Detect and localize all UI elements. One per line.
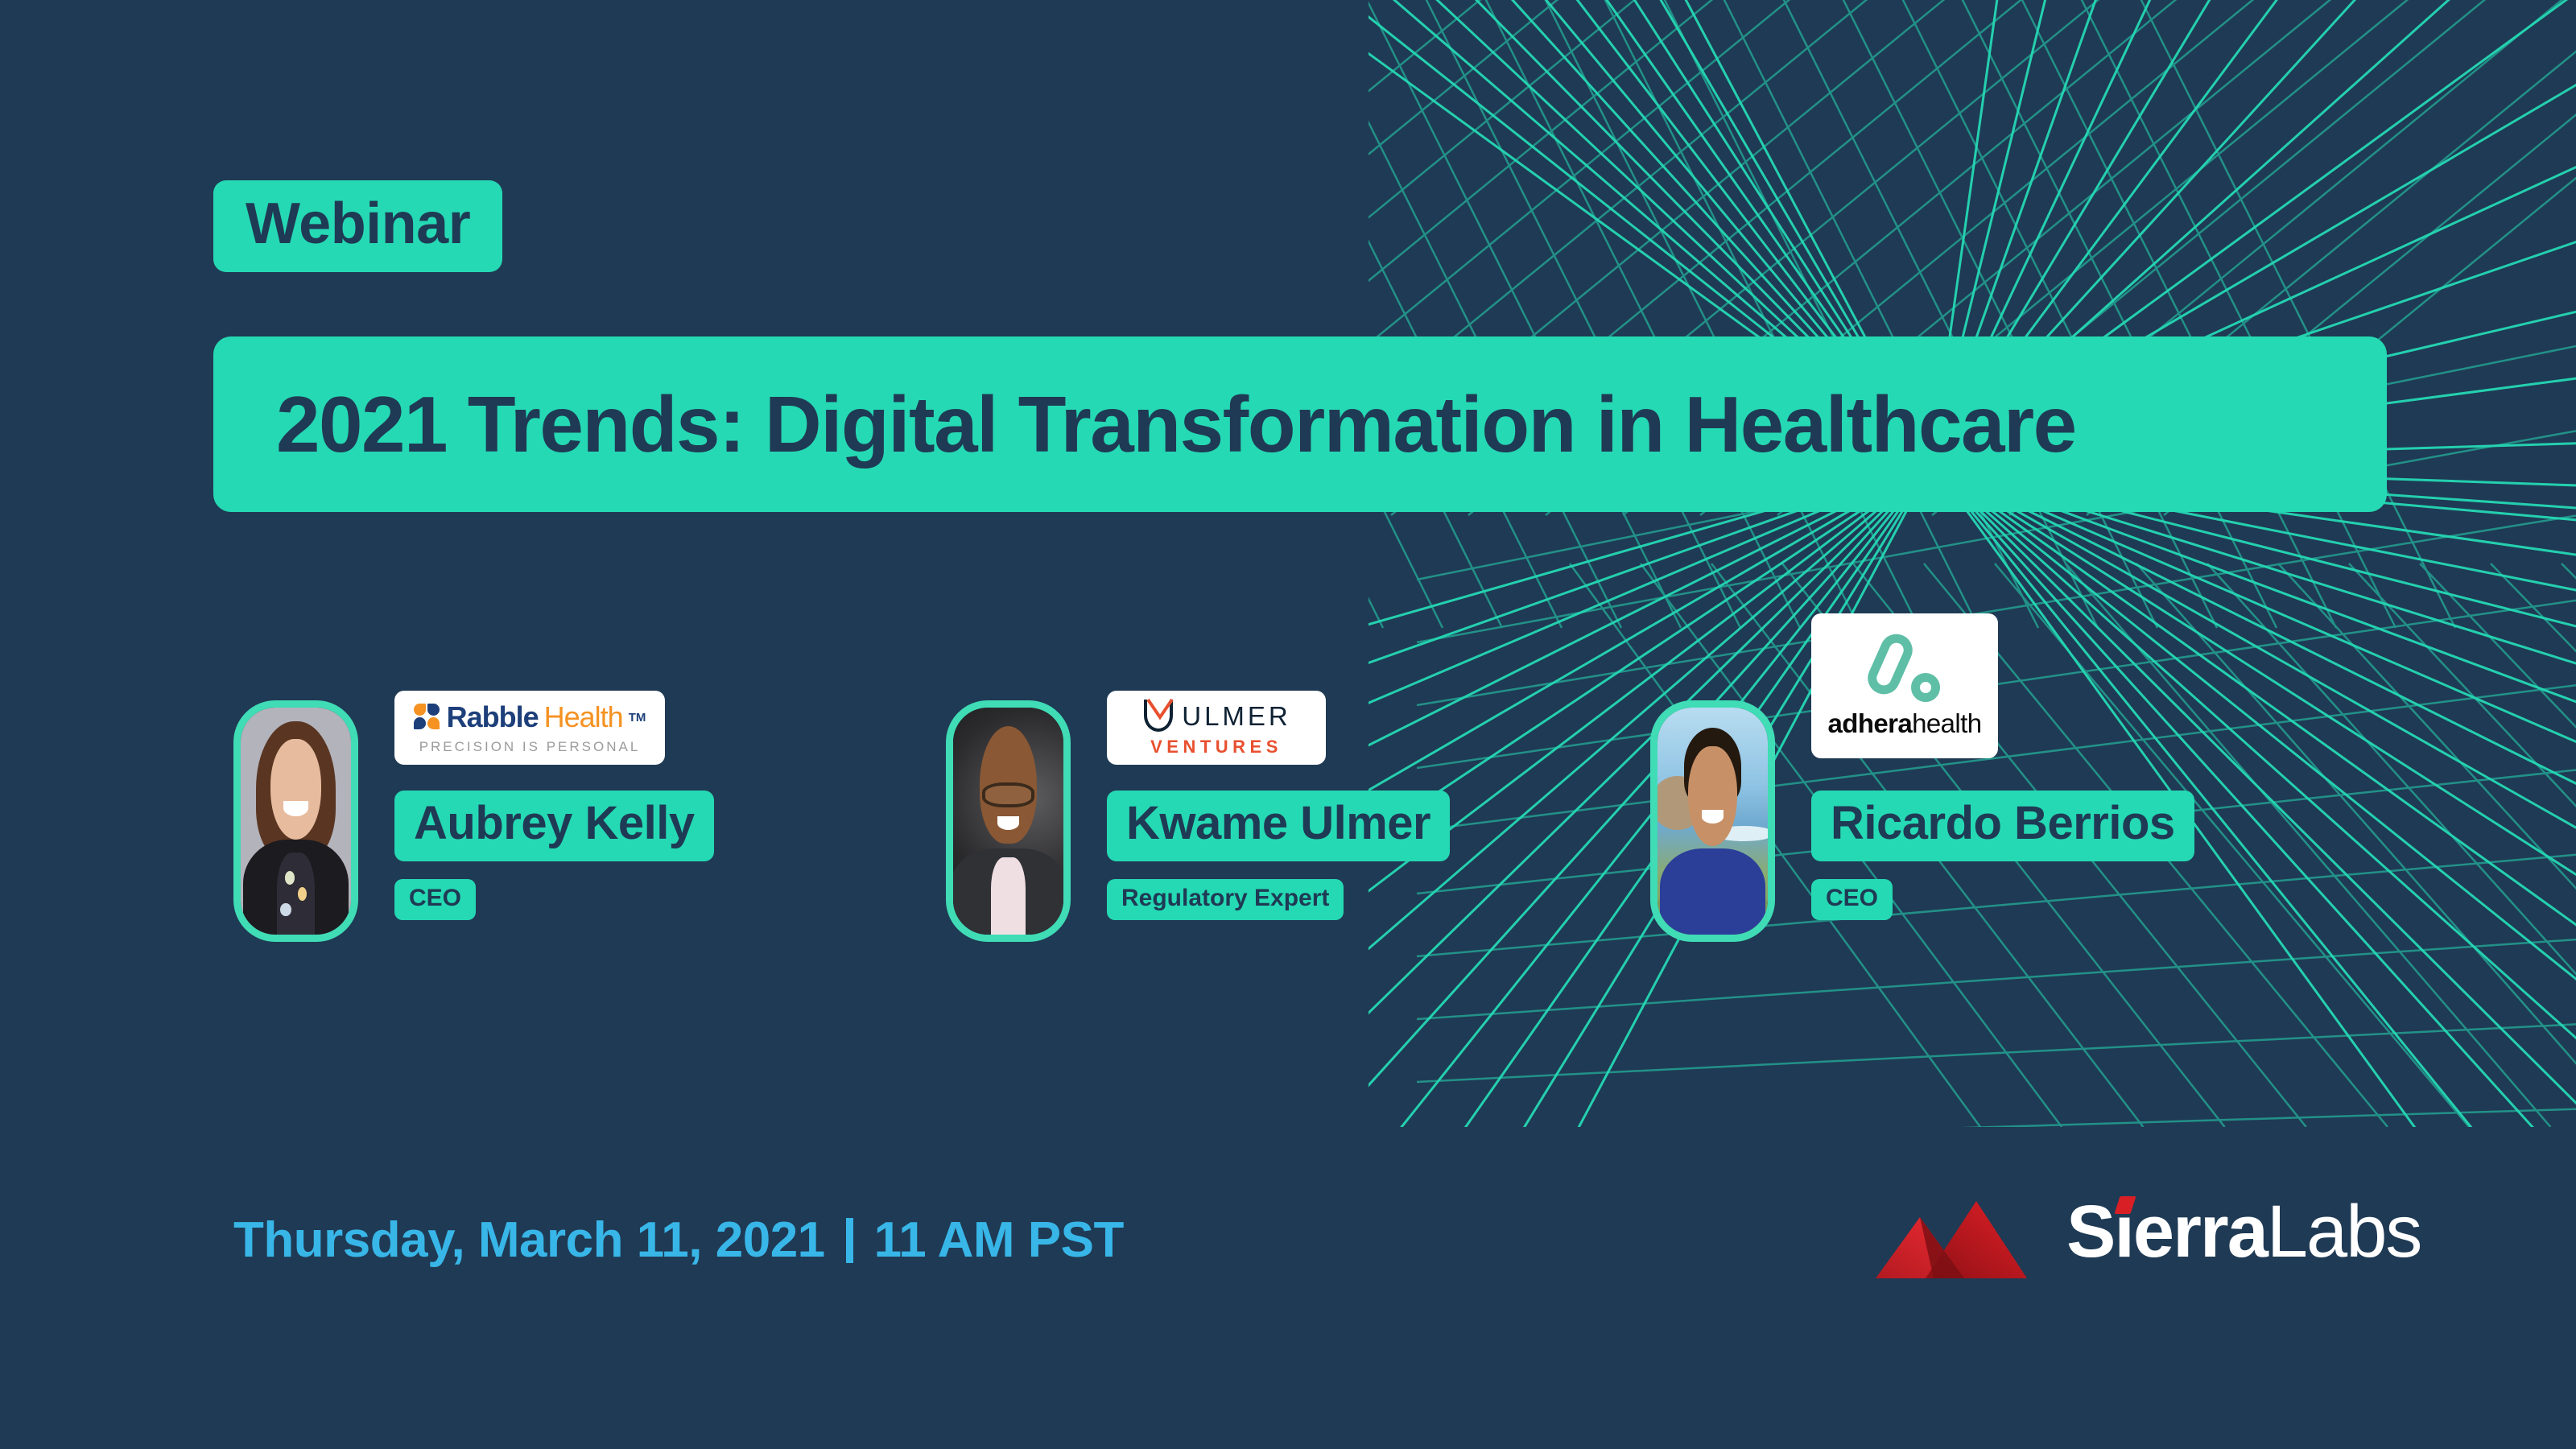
- trademark-symbol: TM: [629, 711, 646, 724]
- speaker-name: Ricardo Berrios: [1811, 791, 2194, 861]
- webinar-promo-canvas: Webinar 2021 Trends: Digital Transformat…: [0, 0, 2576, 1449]
- logo-text-primary: ULMER: [1182, 701, 1291, 732]
- logo-text-secondary: Health: [544, 700, 623, 734]
- brand-text-primary: Sierra: [2066, 1190, 2267, 1274]
- brand-text-secondary: Labs: [2267, 1190, 2421, 1274]
- logo-text-secondary: health: [1912, 708, 1981, 738]
- logo-text-primary: Rabble: [447, 700, 539, 734]
- logo-tagline: PRECISION IS PERSONAL: [419, 739, 641, 755]
- company-logo-adhera-health: adherahealth: [1811, 613, 1998, 758]
- adhera-capsule-icon: [1868, 633, 1942, 704]
- portrait-aubrey-kelly: [241, 708, 351, 935]
- sierra-mountains-icon: [1876, 1183, 2049, 1280]
- brand-logo-sierra-labs: SierraLabs: [1876, 1183, 2421, 1280]
- speaker-name: Aubrey Kelly: [394, 791, 714, 861]
- avatar: [946, 700, 1071, 942]
- webinar-kicker-badge: Webinar: [213, 180, 502, 272]
- page-title: 2021 Trends: Digital Transformation in H…: [213, 379, 2076, 470]
- portrait-ricardo-berrios: [1657, 708, 1768, 935]
- decorative-line-pattern: [1368, 0, 2576, 1127]
- speaker-role: CEO: [394, 879, 476, 920]
- webinar-time: 11 AM PST: [874, 1212, 1124, 1269]
- speaker-role: CEO: [1811, 879, 1893, 920]
- speaker-role: Regulatory Expert: [1107, 879, 1344, 920]
- logo-text-secondary: VENTURES: [1150, 737, 1282, 758]
- logo-text-primary: adhera: [1828, 708, 1913, 738]
- speaker-list: RabbleHealthTM PRECISION IS PERSONAL Aub…: [233, 700, 2407, 958]
- datetime-separator: [846, 1218, 853, 1263]
- avatar: [1650, 700, 1775, 942]
- ulmer-checkmark-icon: [1141, 698, 1179, 735]
- avatar: [233, 700, 358, 942]
- speaker-name: Kwame Ulmer: [1107, 791, 1450, 861]
- webinar-date: Thursday, March 11, 2021: [233, 1212, 825, 1269]
- company-logo-rabble-health: RabbleHealthTM PRECISION IS PERSONAL: [394, 691, 665, 765]
- rabble-health-mark-icon: [414, 704, 441, 731]
- company-logo-ulmer-ventures: ULMER VENTURES: [1107, 691, 1326, 765]
- portrait-kwame-ulmer: [953, 708, 1063, 935]
- webinar-datetime: Thursday, March 11, 2021 11 AM PST: [233, 1212, 1124, 1269]
- webinar-title-bar: 2021 Trends: Digital Transformation in H…: [213, 336, 2387, 512]
